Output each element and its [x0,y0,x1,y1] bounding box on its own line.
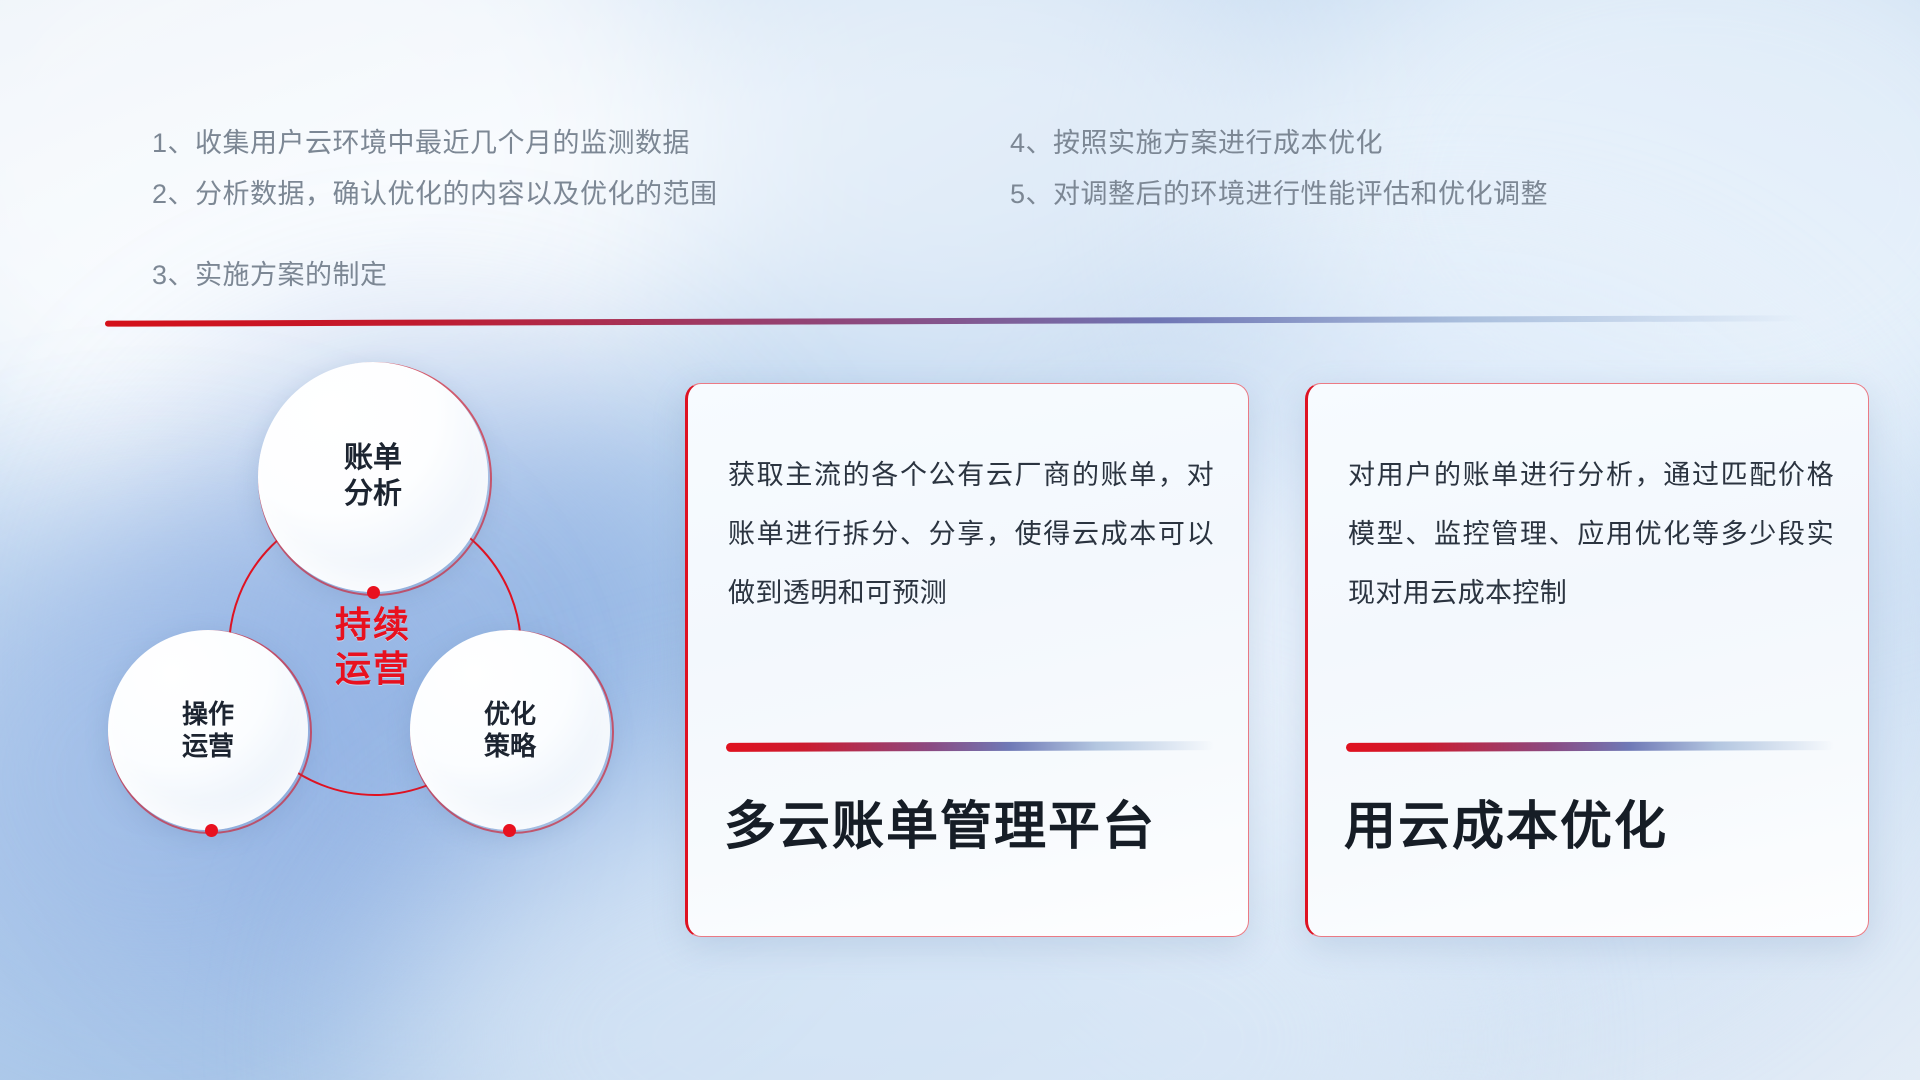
venn-center-label-line2: 运营 [335,647,411,691]
card-cloud-cost-optimization-title: 用云成本优化 [1344,784,1844,859]
card-cloud-cost-optimization[interactable]: 对用户的账单进行分析，通过匹配价格模型、监控管理、应用优化等多少段实现对用云成本… [1305,383,1869,937]
venn-node-bottom-left-dot [205,824,218,837]
card-multi-cloud-billing[interactable]: 获取主流的各个公有云厂商的账单，对账单进行拆分、分享，使得云成本可以做到透明和可… [685,383,1249,937]
step-item-2: 2、分析数据，确认优化的内容以及优化的范围 [152,172,718,211]
card-multi-cloud-billing-divider [726,741,1214,752]
step-item-3: 3、实施方案的制定 [152,253,388,292]
venn-center-label-line1: 持续 [335,603,411,647]
step-item-4: 4、按照实施方案进行成本优化 [1010,121,1383,160]
venn-bubble-operations-line2: 运营 [182,730,234,762]
continuous-operation-venn-diagram: 账单 分析 操作 运营 优化 策略 持续 运营 [90,350,630,950]
card-multi-cloud-billing-body: 获取主流的各个公有云厂商的账单，对账单进行拆分、分享，使得云成本可以做到透明和可… [728,446,1214,623]
card-multi-cloud-billing-title: 多云账单管理平台 [724,784,1224,859]
venn-node-top-dot [367,586,380,599]
venn-center-label: 持续 运营 [228,502,518,792]
process-steps-list: 1、收集用户云环境中最近几个月的监测数据 2、分析数据，确认优化的内容以及优化的… [0,0,1920,300]
card-cloud-cost-optimization-body: 对用户的账单进行分析，通过匹配价格模型、监控管理、应用优化等多少段实现对用云成本… [1348,446,1834,623]
venn-bubble-bill-analysis-line1: 账单 [344,441,402,477]
step-item-5: 5、对调整后的环境进行性能评估和优化调整 [1010,172,1548,211]
venn-node-bottom-right-dot [503,824,516,837]
step-item-1: 1、收集用户云环境中最近几个月的监测数据 [152,121,690,160]
venn-bubble-operations-line1: 操作 [182,698,234,730]
card-cloud-cost-optimization-divider [1346,741,1834,752]
